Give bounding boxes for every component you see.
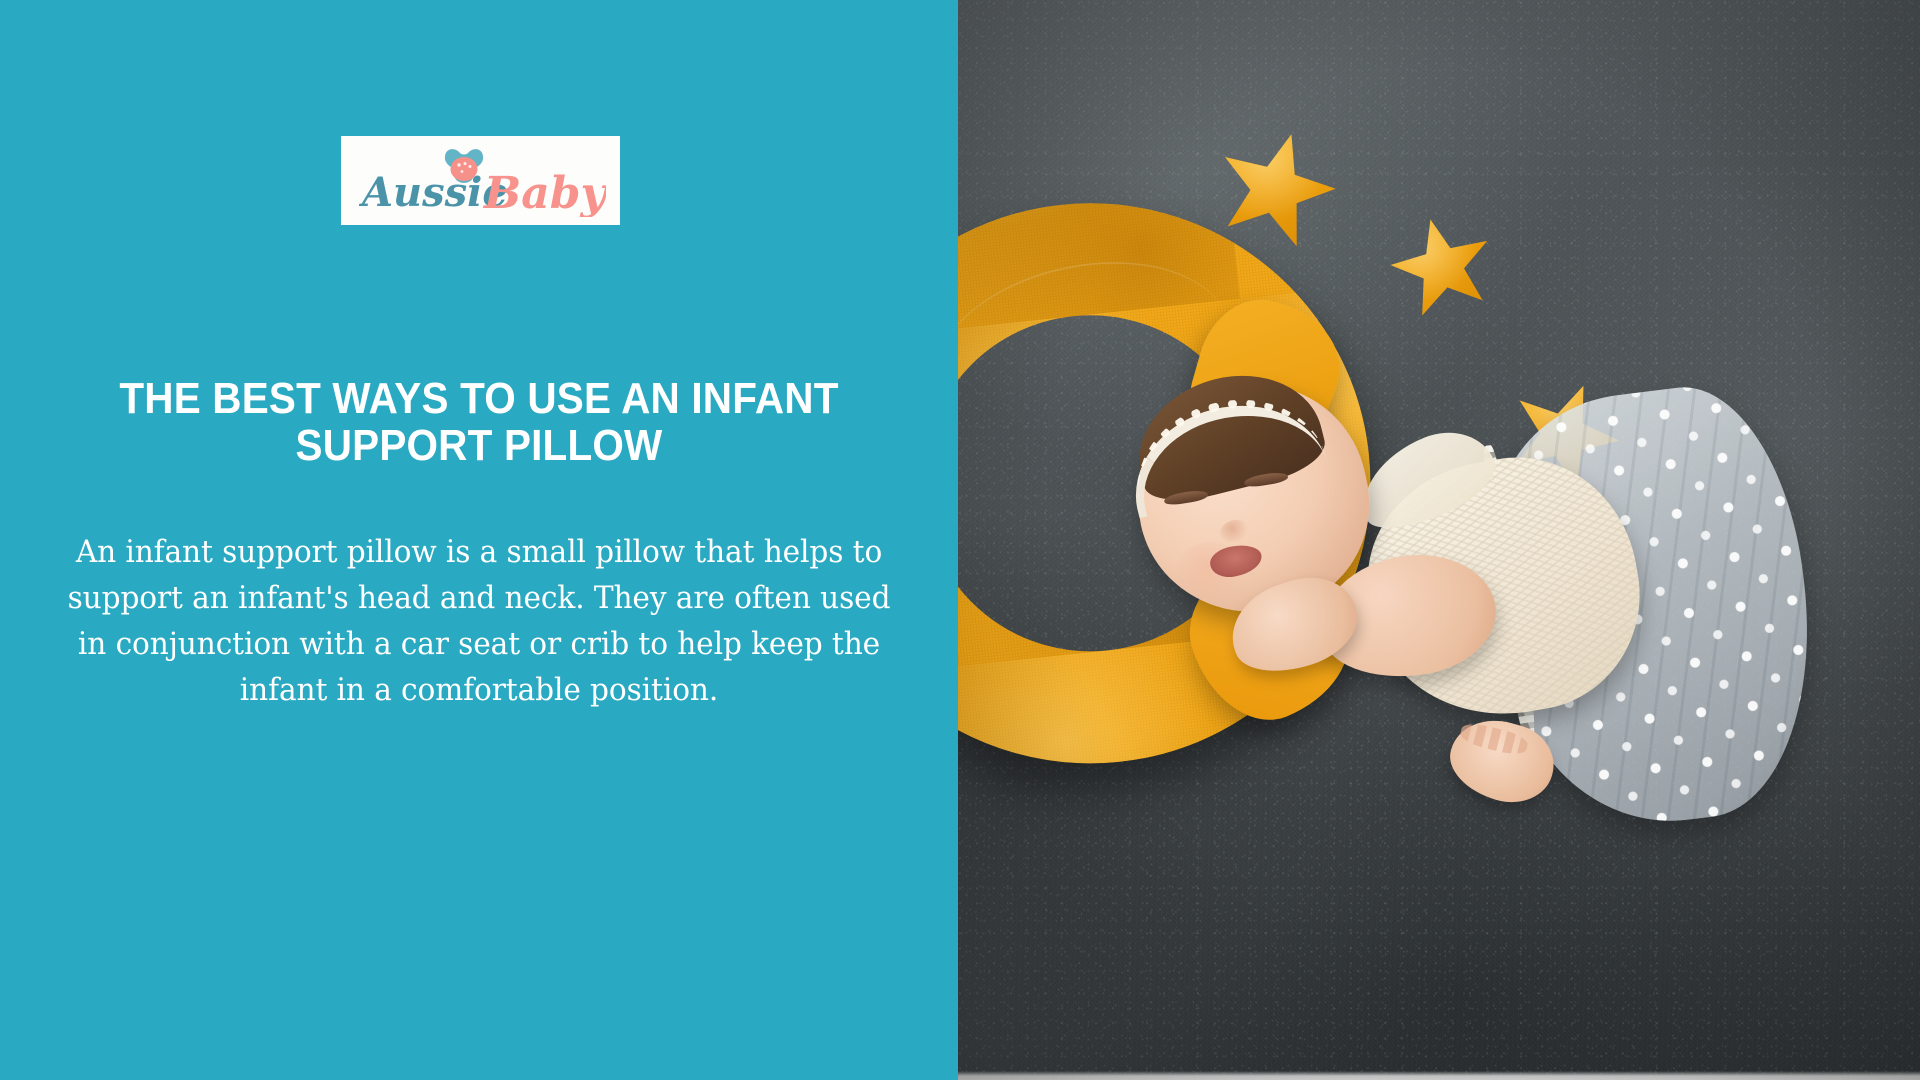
logo-artwork: Aussie Baby <box>356 145 606 217</box>
logo-word-baby: Baby <box>482 168 606 217</box>
brand-logo[interactable]: Aussie Baby <box>341 136 620 225</box>
hero-photo <box>958 0 1920 1080</box>
page-title: THE BEST WAYS TO USE AN INFANT SUPPORT P… <box>84 376 873 469</box>
photo-bottom-edge <box>958 1071 1920 1080</box>
aussiebaby-logo-svg: Aussie Baby <box>356 145 606 217</box>
promo-banner: Aussie Baby THE BEST WAYS TO USE AN INFA… <box>0 0 1920 1080</box>
photo-stage <box>958 0 1920 1080</box>
sleeping-baby <box>1098 356 1718 836</box>
body-paragraph: An infant support pillow is a small pill… <box>59 530 899 714</box>
text-panel: Aussie Baby THE BEST WAYS TO USE AN INFA… <box>0 0 958 1080</box>
